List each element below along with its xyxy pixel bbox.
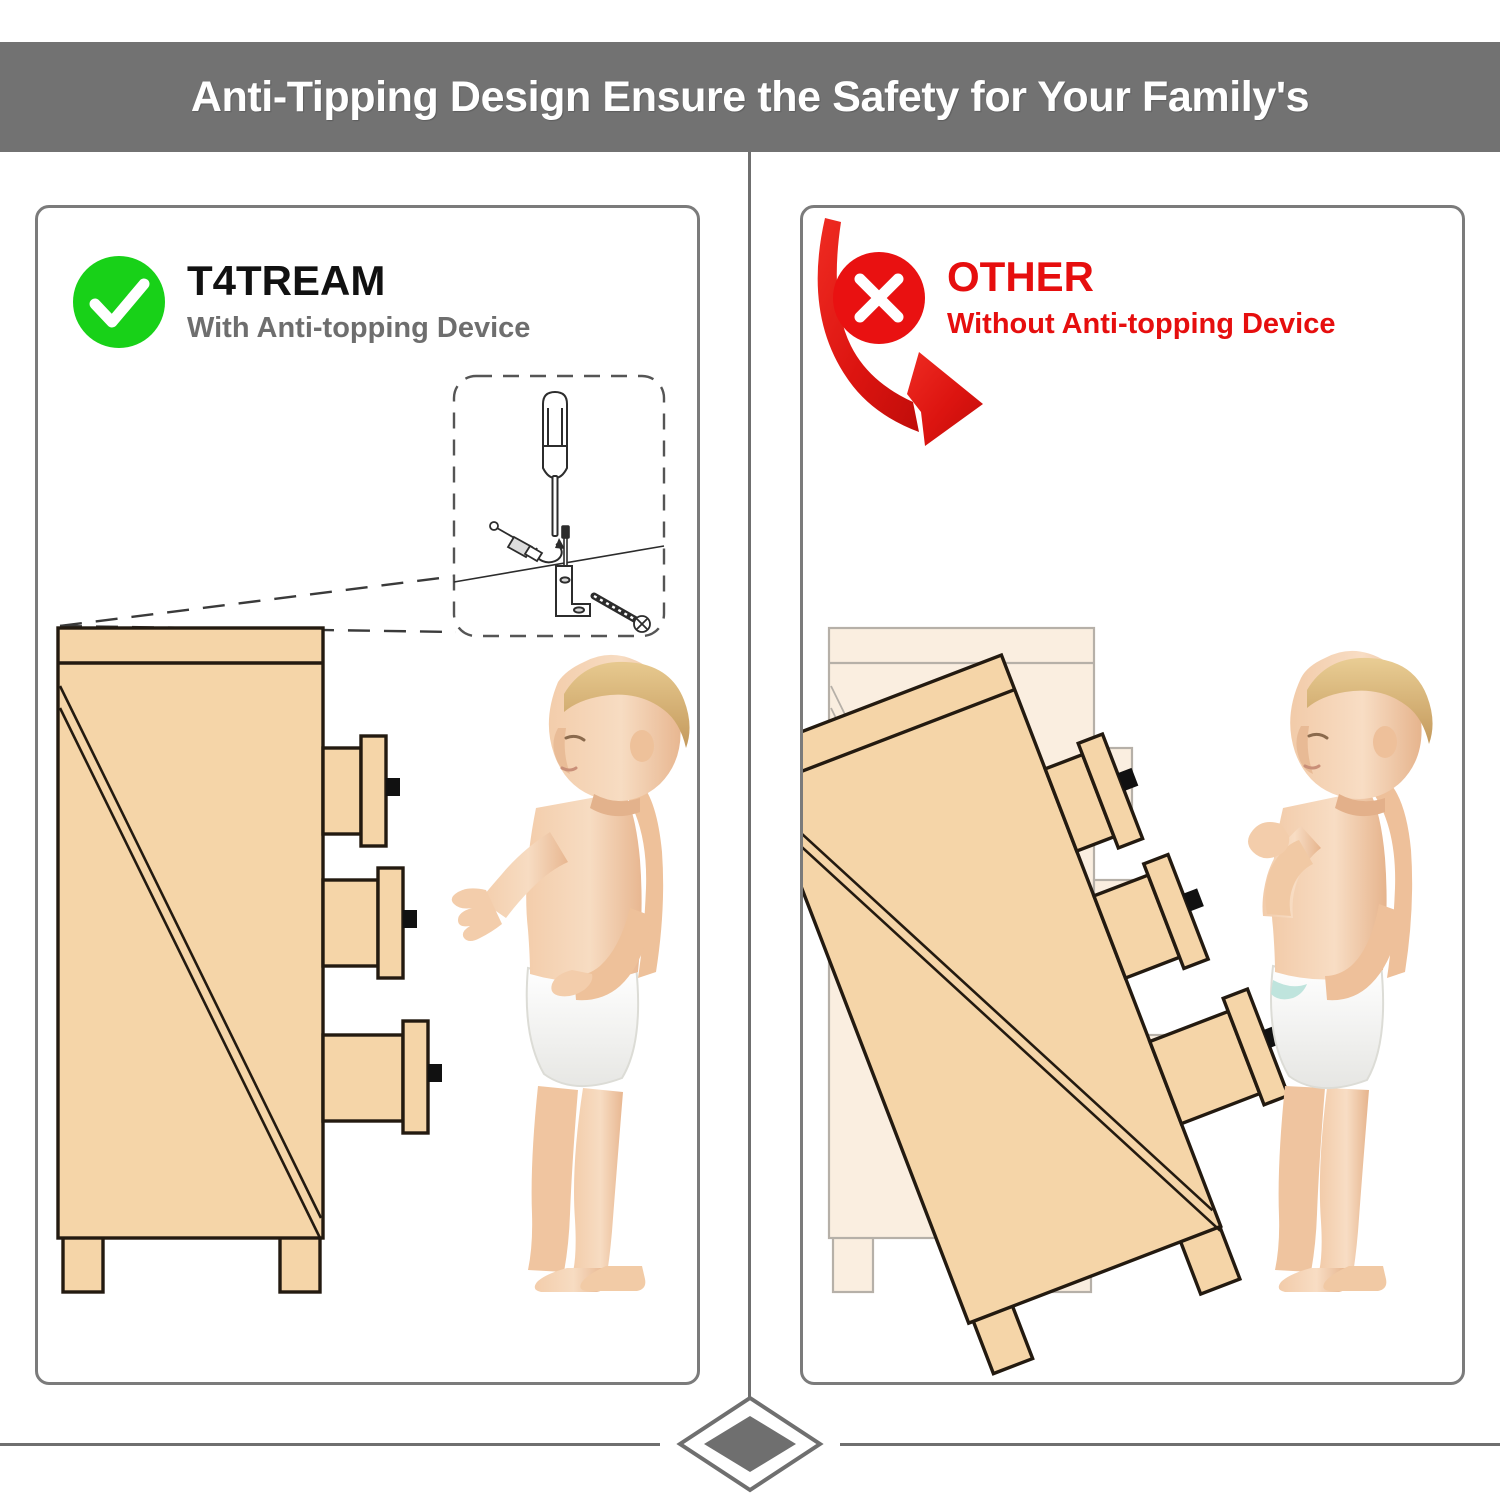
page-title: Anti-Tipping Design Ensure the Safety fo…: [191, 73, 1309, 122]
bottom-rule-right: [840, 1443, 1500, 1446]
diamond-divider-icon: [654, 1390, 846, 1498]
illustration-upright-dresser: [38, 208, 703, 1388]
panel-heading-bad: OTHER Without Anti-topping Device: [833, 252, 1336, 344]
panel-without-anti-tipping: OTHER Without Anti-topping Device: [800, 205, 1465, 1385]
panel-with-anti-tipping: T4TREAM With Anti-topping Device: [35, 205, 700, 1385]
brand-name-bad: OTHER: [947, 255, 1336, 299]
panel-heading-good: T4TREAM With Anti-topping Device: [73, 256, 530, 348]
bottom-rule-left: [0, 1443, 660, 1446]
header-bar: Anti-Tipping Design Ensure the Safety fo…: [0, 42, 1500, 152]
subtitle-bad: Without Anti-topping Device: [947, 308, 1336, 341]
illustration-tipping-dresser: [803, 208, 1468, 1388]
vertical-divider: [748, 152, 751, 1445]
check-circle-icon: [73, 256, 165, 348]
brand-name-good: T4TREAM: [187, 259, 530, 303]
subtitle-good: With Anti-topping Device: [187, 312, 530, 345]
cross-circle-icon: [833, 252, 925, 344]
